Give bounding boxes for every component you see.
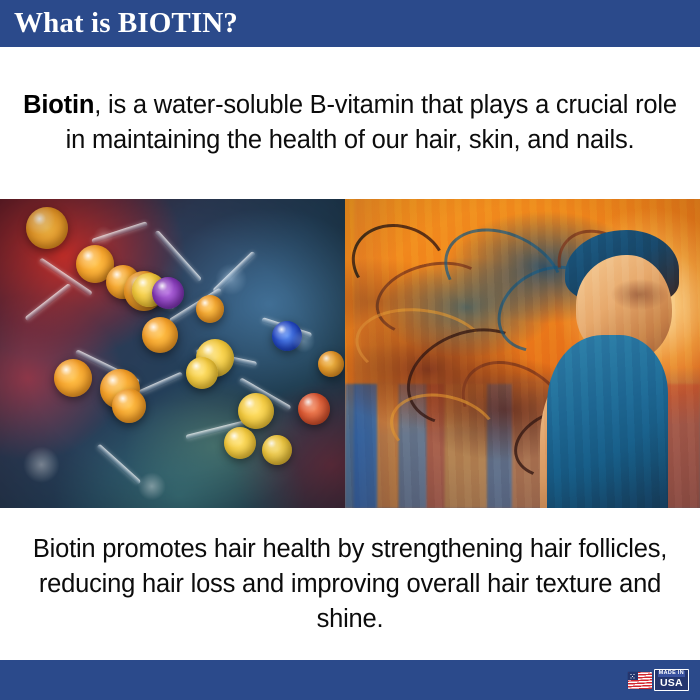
usa-badge-box: MADE IN USA [654,669,689,691]
us-flag-canton [628,672,638,680]
molecule-image [0,199,345,508]
portrait-vignette [345,199,700,508]
biotin-infographic: What is BIOTIN? Biotin, is a water-solub… [0,0,700,700]
image-band [0,199,700,508]
intro-text-block: Biotin, is a water-soluble B-vitamin tha… [0,47,700,199]
footer-bar: MADE IN USA [0,660,700,700]
usa-label: USA [658,678,685,689]
made-in-usa-badge: MADE IN USA [628,669,689,691]
us-flag-icon [628,672,652,689]
intro-rest-text: , is a water-soluble B-vitamin that play… [66,91,677,154]
intro-paragraph: Biotin, is a water-soluble B-vitamin tha… [14,88,686,158]
outro-paragraph: Biotin promotes hair health by strengthe… [12,532,688,637]
page-title: What is BIOTIN? [0,9,238,38]
intro-lead-word: Biotin [23,91,94,119]
molecule-vignette [0,199,345,508]
hair-portrait-image [345,199,700,508]
outro-text-block: Biotin promotes hair health by strengthe… [0,508,700,660]
header-bar: What is BIOTIN? [0,0,700,47]
